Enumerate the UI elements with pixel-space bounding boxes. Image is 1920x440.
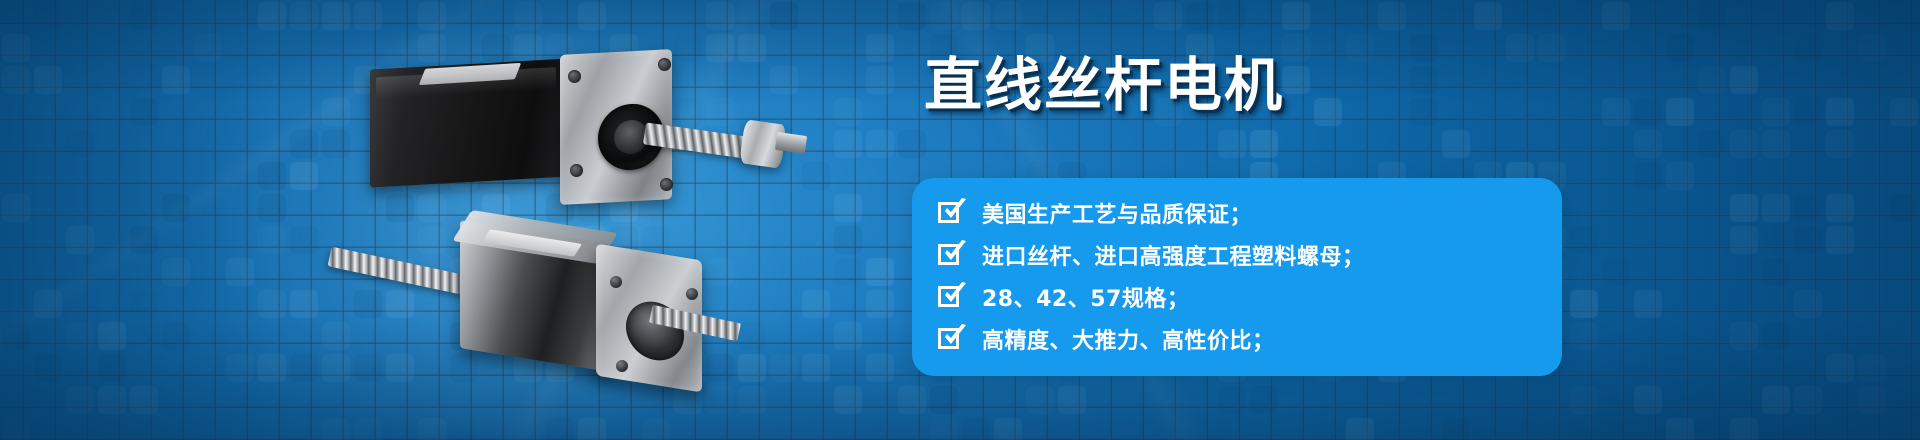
feature-item: 高精度、大推力、高性价比； [938, 318, 1536, 360]
feature-item-label: 高精度、大推力、高性价比； [982, 323, 1275, 355]
motor-top-mount-hole [660, 178, 673, 191]
product-image-motor-bottom [310, 210, 730, 370]
feature-item: 进口丝杆、进口高强度工程塑料螺母； [938, 234, 1536, 276]
banner-title: 直线丝杆电机 [924, 52, 1284, 119]
motor-top-mount-hole [570, 164, 583, 177]
motor-bottom-mount-hole [610, 276, 622, 288]
motor-bottom-mount-hole [686, 288, 698, 300]
check-box-icon [938, 326, 964, 352]
check-box-icon [938, 200, 964, 226]
product-banner: 直线丝杆电机 美国生产工艺与品质保证； 进 [0, 0, 1920, 440]
motor-bottom-lead-screw [328, 247, 479, 298]
product-image-motor-top [370, 52, 790, 202]
feature-item: 美国生产工艺与品质保证； [938, 192, 1536, 234]
feature-item: 28、42、57规格； [938, 276, 1536, 318]
feature-item-label: 进口丝杆、进口高强度工程塑料螺母； [982, 239, 1365, 271]
feature-callout-box: 美国生产工艺与品质保证； 进口丝杆、进口高强度工程塑料螺母； [912, 178, 1562, 376]
check-box-icon [938, 284, 964, 310]
motor-top-mount-hole [658, 58, 671, 71]
feature-list: 美国生产工艺与品质保证； 进口丝杆、进口高强度工程塑料螺母； [912, 192, 1562, 360]
motor-top-mount-hole [568, 70, 581, 83]
motor-bottom-mount-hole [616, 360, 628, 372]
feature-item-label: 美国生产工艺与品质保证； [982, 197, 1252, 229]
check-box-icon [938, 242, 964, 268]
feature-item-label: 28、42、57规格； [982, 281, 1189, 313]
product-images [250, 20, 770, 420]
